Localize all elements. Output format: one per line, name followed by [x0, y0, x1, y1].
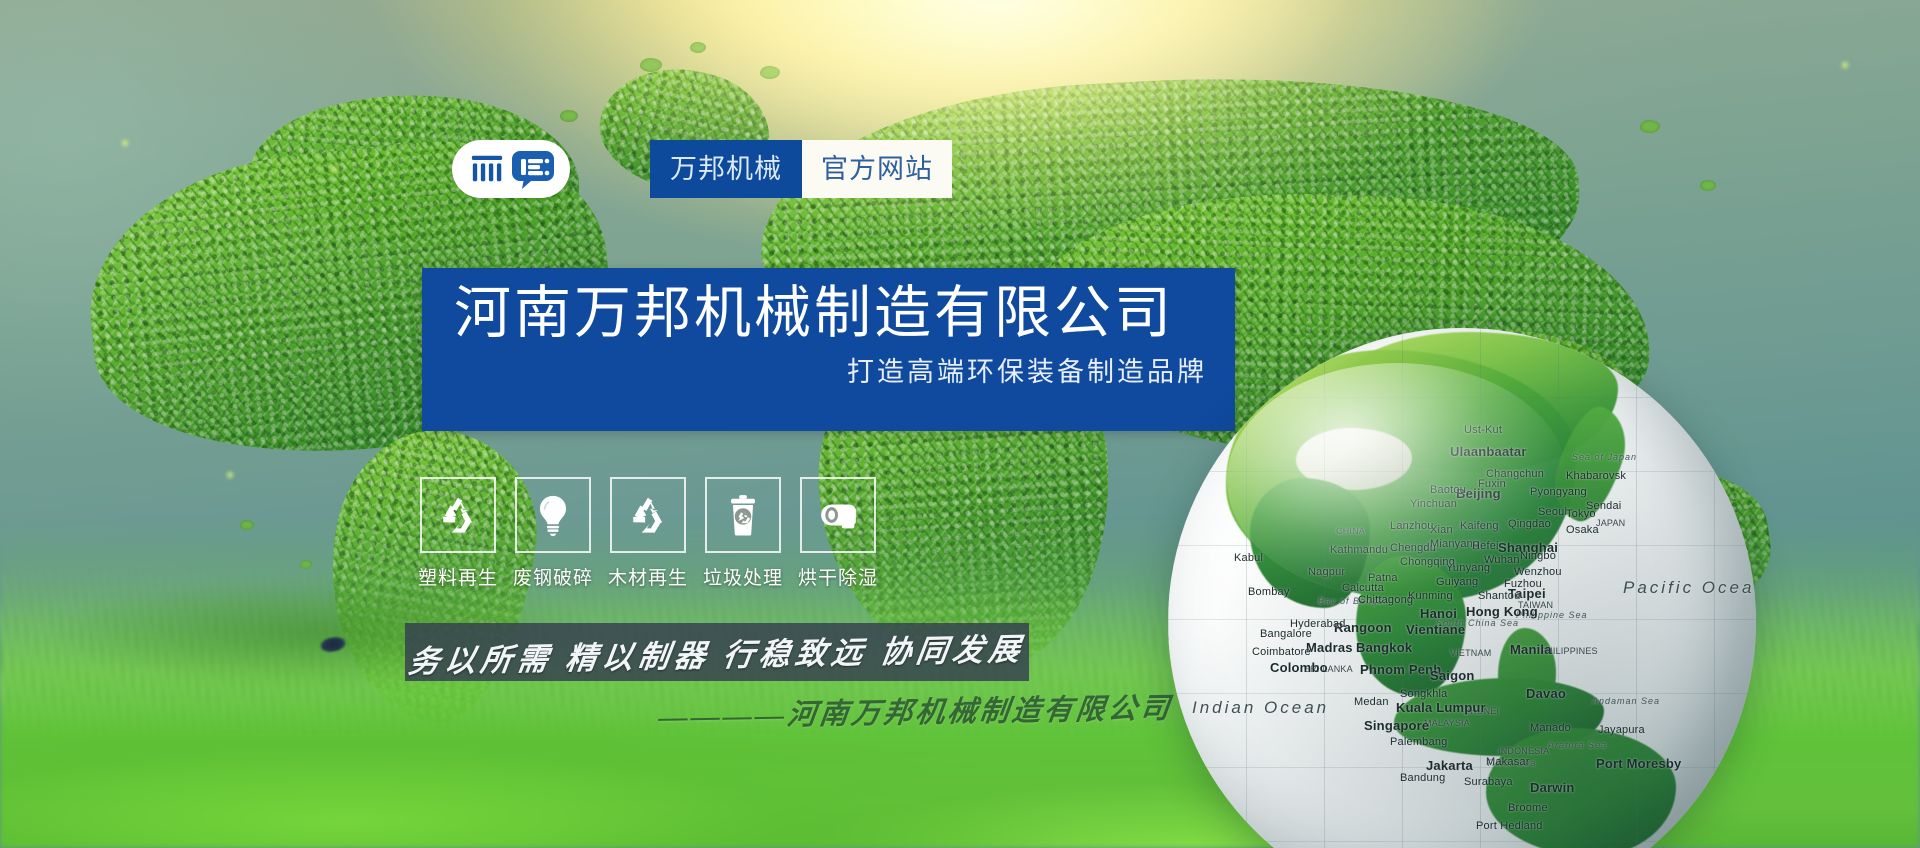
feature-icon-box — [420, 477, 496, 553]
feature-waste-treatment[interactable]: 垃圾处理 — [705, 477, 781, 590]
globe-city-label: Madras — [1306, 640, 1353, 655]
globe-city-label: Wuhan — [1484, 554, 1520, 566]
w-bars-icon — [468, 152, 506, 186]
globe-city-label: Songkhla — [1400, 688, 1447, 700]
light-flare — [225, 470, 235, 480]
globe-city-label: Vientiane — [1406, 622, 1465, 637]
globe-city-label: Guiyang — [1436, 576, 1478, 588]
feature-icon-box — [610, 477, 686, 553]
globe-city-label: Singapore — [1364, 718, 1429, 733]
globe-city-label: Baotou — [1430, 484, 1466, 496]
globe-city-label: Colombo — [1270, 660, 1328, 675]
hero-banner: 万邦机械 官方网站 河南万邦机械制造有限公司 打造高端环保装备制造品牌 — [0, 0, 1920, 848]
feature-plastic-recycling[interactable]: 塑料再生 — [420, 477, 496, 590]
globe-city-label: Yinchuan — [1410, 498, 1457, 510]
slogan-band: 务以所需 精以制器 行稳致远 协同发展 — [405, 623, 1029, 681]
light-flare — [120, 138, 130, 148]
nav-tabs: 万邦机械 官方网站 — [650, 140, 952, 198]
globe-city-label: Sendai — [1586, 500, 1621, 512]
feature-label: 烘干除湿 — [798, 563, 878, 590]
globe-city-label: Palembang — [1390, 736, 1447, 748]
trash-bin-recycle-icon — [720, 492, 766, 538]
globe-city-label: Khabarovsk — [1566, 470, 1626, 482]
company-logo[interactable] — [452, 140, 570, 198]
globe-city-label: Kuala Lumpur — [1396, 700, 1486, 715]
recycle-icon — [625, 492, 671, 538]
globe-city-label: Calcutta — [1342, 582, 1384, 594]
lightbulb-icon — [530, 492, 576, 538]
globe-city-label: Bangalore — [1260, 628, 1312, 640]
globe-country-label: CHINA — [1336, 526, 1365, 536]
globe-city-label: Kabul — [1234, 552, 1263, 564]
site-header: 万邦机械 官方网站 — [452, 140, 952, 198]
globe-city-label: Manila — [1510, 642, 1552, 657]
globe-sphere: Pacific OceanIndian OceanSouth China Sea… — [1168, 328, 1756, 848]
globe-country-label: INDONESIA — [1498, 746, 1549, 756]
globe-city-label: Hefei — [1472, 540, 1499, 552]
hero-title-panel: 河南万邦机械制造有限公司 打造高端环保装备制造品牌 — [422, 268, 1235, 431]
globe-city-label: Pyongyang — [1530, 486, 1587, 498]
recycle-icon — [435, 492, 481, 538]
globe-graphic: Pacific OceanIndian OceanSouth China Sea… — [1168, 328, 1756, 848]
globe-sea-label: Sea of Japan — [1572, 452, 1637, 462]
globe-sea-label: Andaman Sea — [1592, 696, 1660, 706]
page-subtitle: 打造高端环保装备制造品牌 — [454, 350, 1207, 389]
page-title: 河南万邦机械制造有限公司 — [454, 282, 1207, 346]
globe-city-label: Chittagong — [1358, 594, 1413, 606]
globe-city-label: Jakarta — [1426, 758, 1473, 773]
feature-label: 垃圾处理 — [703, 563, 783, 590]
globe-city-label: Makasar — [1486, 756, 1530, 768]
globe-city-label: Wenzhou — [1514, 566, 1562, 578]
nav-tab-official-site[interactable]: 官方网站 — [802, 140, 952, 198]
globe-city-label: Ulaanbaatar — [1450, 444, 1527, 459]
globe-city-label: Fuzhou — [1504, 578, 1542, 590]
feature-icon-box — [800, 477, 876, 553]
globe-city-label: Broome — [1508, 802, 1548, 814]
feature-drying-dehumidify[interactable]: 烘干除湿 — [800, 477, 876, 590]
globe-ocean-label: Indian Ocean — [1192, 698, 1329, 718]
globe-city-label: Kaifeng — [1460, 520, 1499, 532]
globe-city-label: Seoul — [1538, 506, 1567, 518]
feature-label: 木材再生 — [608, 563, 688, 590]
globe-city-label: Jayapura — [1598, 724, 1645, 736]
globe-city-label: Surabaya — [1464, 776, 1513, 788]
globe-city-label: Kathmandu — [1330, 544, 1388, 556]
b-bubble-icon — [511, 149, 555, 189]
feature-label: 塑料再生 — [418, 563, 498, 590]
slogan-text: 务以所需 精以制器 行稳致远 协同发展 — [406, 623, 1028, 681]
nav-tab-company[interactable]: 万邦机械 — [650, 140, 802, 198]
light-flare — [1840, 60, 1850, 70]
globe-ocean-label: Pacific Ocean — [1623, 578, 1756, 598]
globe-city-label: Port Hedland — [1476, 820, 1543, 832]
light-flare — [330, 165, 340, 175]
globe-city-label: Qingdao — [1508, 518, 1551, 530]
globe-city-label: Medan — [1354, 696, 1389, 708]
globe-city-label: Fuxin — [1478, 478, 1506, 490]
globe-city-label: Bandung — [1400, 772, 1445, 784]
feature-label: 废钢破碎 — [513, 563, 593, 590]
feature-icon-box — [515, 477, 591, 553]
globe-city-label: Darwin — [1530, 780, 1575, 795]
globe-city-label: Coimbatore — [1252, 646, 1311, 658]
globe-city-label: Nagpur — [1308, 566, 1345, 578]
globe-city-label: Port Moresby — [1596, 756, 1681, 771]
globe-city-label: Hanoi — [1420, 606, 1457, 621]
globe-city-label: Shantou — [1478, 590, 1520, 602]
globe-city-label: Osaka — [1566, 524, 1599, 536]
feature-icon-box — [705, 477, 781, 553]
feature-list: 塑料再生 废钢破碎 — [420, 477, 876, 590]
globe-country-label: MALAYSIA — [1424, 718, 1470, 728]
globe-city-label: Ningbo — [1520, 550, 1556, 562]
globe-city-label: Bangkok — [1356, 640, 1412, 655]
globe-city-label: Ust-Kut — [1464, 424, 1502, 436]
globe-city-label: Lanzhou — [1390, 520, 1434, 532]
globe-city-label: Kunming — [1408, 590, 1453, 602]
feature-scrap-steel-crushing[interactable]: 废钢破碎 — [515, 477, 591, 590]
globe-city-label: Hong Kong — [1466, 604, 1538, 619]
globe-city-label: Davao — [1526, 686, 1566, 701]
globe-country-label: JAPAN — [1596, 518, 1625, 528]
globe-city-label: Manado — [1530, 722, 1571, 734]
globe-city-label: Bombay — [1248, 586, 1290, 598]
globe-city-label: Saigon — [1430, 668, 1475, 683]
globe-country-label: VIETNAM — [1450, 648, 1491, 658]
globe-sea-label: Arafura Sea — [1548, 740, 1607, 750]
dryer-blower-icon — [815, 492, 861, 538]
feature-wood-recycling[interactable]: 木材再生 — [610, 477, 686, 590]
